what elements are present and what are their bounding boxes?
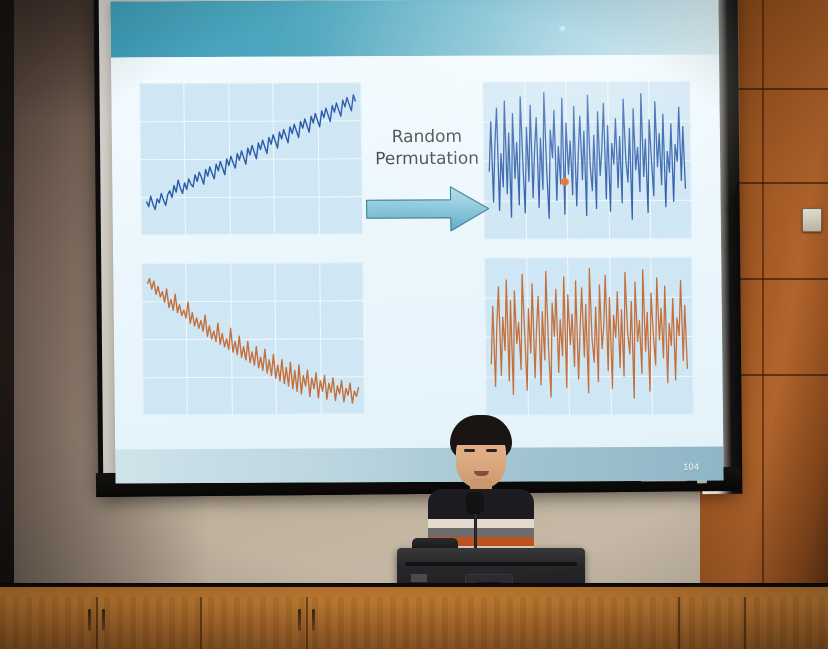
- arrow-icon: [362, 182, 493, 237]
- monitor-label: [411, 574, 427, 582]
- microphone-head: [466, 492, 484, 514]
- presenter-hair-front: [451, 425, 511, 445]
- slide-footer-bar: 104: [115, 447, 723, 484]
- chart-top-right-permuted-blue: [482, 81, 692, 240]
- chart-bottom-right-permuted-orange: [484, 257, 694, 416]
- cabinet-wood-grain: [0, 597, 828, 649]
- chart-line-svg: [141, 262, 365, 415]
- chart-line-svg: [139, 82, 363, 235]
- presenter-eye-left: [464, 449, 475, 452]
- lecture-hall-photo: Random Permutation: [0, 0, 828, 649]
- light-switch-plate[interactable]: [802, 208, 822, 232]
- slide-page-number: 104: [683, 462, 699, 472]
- label-line-2: Permutation: [367, 148, 487, 171]
- cabinet-handle[interactable]: [298, 609, 301, 631]
- presenter-eye-right: [486, 449, 497, 452]
- chart-line-svg: [482, 81, 692, 240]
- label-line-1: Random: [367, 126, 487, 149]
- chart-top-left-original-blue: [139, 82, 363, 235]
- projected-slide: Random Permutation: [110, 0, 723, 483]
- cabinet-handle[interactable]: [312, 609, 315, 631]
- random-permutation-arrow: [362, 182, 493, 237]
- left-dark-edge: [0, 0, 14, 600]
- random-permutation-label: Random Permutation: [367, 126, 487, 171]
- chart-line-svg: [484, 257, 694, 416]
- slide-header-bar: [110, 0, 719, 57]
- screen-dust-speck: [560, 26, 565, 31]
- cabinet-handle[interactable]: [102, 609, 105, 631]
- cabinet-handle[interactable]: [88, 609, 91, 631]
- slide-content-area: Random Permutation: [111, 55, 723, 450]
- laser-pointer-dot: [560, 177, 569, 186]
- chart-bottom-left-original-orange: [141, 262, 365, 415]
